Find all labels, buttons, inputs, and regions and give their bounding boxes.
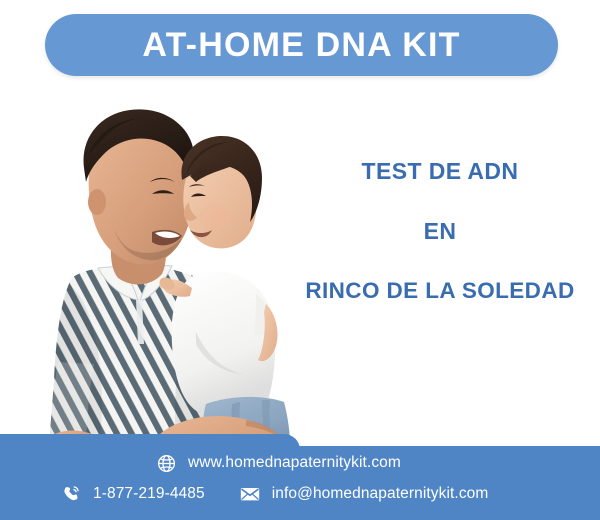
phone-icon	[60, 483, 82, 505]
father-holding-toddler-photo	[0, 82, 320, 482]
title-banner: AT-HOME DNA KIT	[45, 14, 558, 76]
email-item[interactable]: info@homednapaternitykit.com	[239, 483, 489, 505]
website-label: www.homednapaternitykit.com	[188, 455, 401, 471]
globe-icon	[155, 452, 177, 474]
website-item[interactable]: www.homednapaternitykit.com	[155, 452, 401, 474]
envelope-icon	[239, 483, 261, 505]
footer-row-website: www.homednapaternitykit.com	[155, 452, 401, 474]
footer-row-phone-email: 1-877-219-4485 info@homednapaternitykit.…	[60, 483, 488, 505]
poster-canvas: AT-HOME DNA KIT	[0, 0, 600, 520]
location-heading-block: TEST DE ADN EN RINCO DE LA SOLEDAD	[290, 160, 590, 303]
email-label: info@homednapaternitykit.com	[272, 486, 489, 502]
footer-contact-info: www.homednapaternitykit.com 1-877-219-44…	[0, 446, 600, 520]
heading-line-1: TEST DE ADN	[290, 160, 590, 183]
phone-item[interactable]: 1-877-219-4485	[60, 483, 205, 505]
page-title: AT-HOME DNA KIT	[142, 28, 460, 62]
photo-image	[0, 82, 320, 482]
phone-label: 1-877-219-4485	[93, 486, 205, 502]
heading-line-3: RINCO DE LA SOLEDAD	[290, 280, 590, 303]
heading-line-2: EN	[290, 220, 590, 243]
